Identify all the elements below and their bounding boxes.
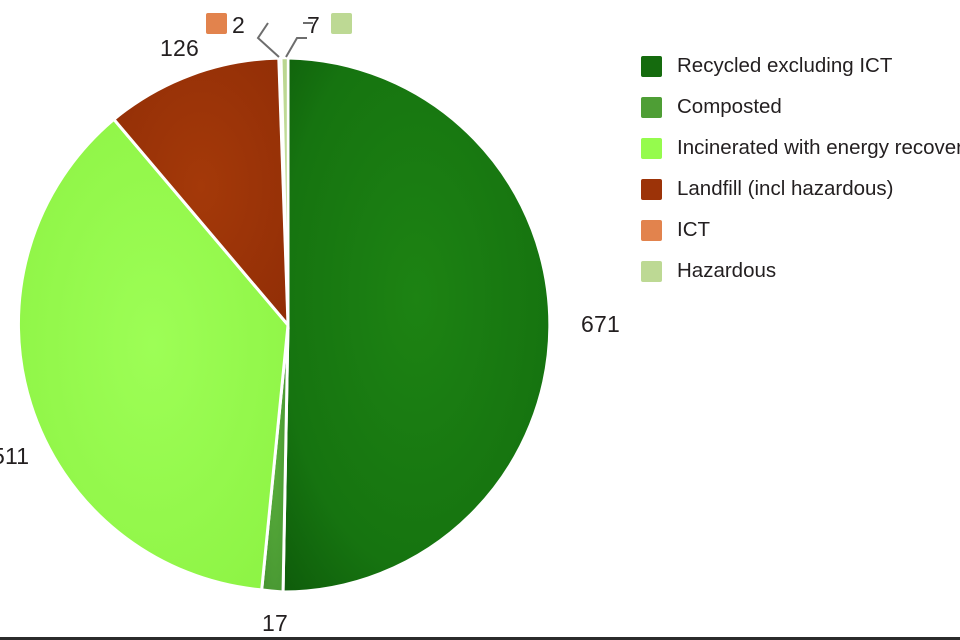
legend-swatch-landfill-incl-hazardous bbox=[641, 179, 662, 200]
legend-item-landfill-incl-hazardous[interactable]: Landfill (incl hazardous) bbox=[641, 169, 960, 210]
callout-swatch-ict bbox=[206, 13, 227, 34]
legend-swatch-composted bbox=[641, 97, 662, 118]
data-label-incinerated: 511 bbox=[0, 445, 29, 468]
pie-callout-leader-lines bbox=[258, 23, 313, 57]
legend-label-composted: Composted bbox=[677, 97, 782, 118]
legend-item-hazardous[interactable]: Hazardous bbox=[641, 251, 960, 292]
pie-slices bbox=[18, 58, 549, 592]
pie-chart-figure: 671 126 17 511 2 7 Recycled excluding IC… bbox=[0, 0, 960, 640]
data-label-landfill: 126 bbox=[160, 37, 199, 60]
chart-legend: Recycled excluding ICT Composted Inciner… bbox=[641, 46, 960, 292]
legend-item-ict[interactable]: ICT bbox=[641, 210, 960, 251]
leader-line-hazardous-stem bbox=[286, 38, 307, 57]
leader-line-ict bbox=[258, 23, 279, 57]
pie-slice-recycled-excluding-ict[interactable] bbox=[283, 58, 550, 592]
legend-label-ict: ICT bbox=[677, 220, 710, 241]
data-label-composted: 17 bbox=[262, 612, 288, 635]
data-label-recycled: 671 bbox=[581, 313, 620, 336]
legend-swatch-recycled-excluding-ict bbox=[641, 56, 662, 77]
data-label-ict: 2 bbox=[232, 14, 245, 37]
legend-item-incinerated-with-energy-recovery[interactable]: Incinerated with energy recovery bbox=[641, 128, 960, 169]
legend-swatch-hazardous bbox=[641, 261, 662, 282]
legend-label-incinerated-with-energy-recovery: Incinerated with energy recovery bbox=[677, 138, 960, 159]
legend-label-hazardous: Hazardous bbox=[677, 261, 776, 282]
legend-item-recycled-excluding-ict[interactable]: Recycled excluding ICT bbox=[641, 46, 960, 87]
legend-swatch-incinerated-with-energy-recovery bbox=[641, 138, 662, 159]
legend-label-landfill-incl-hazardous: Landfill (incl hazardous) bbox=[677, 179, 894, 200]
data-label-hazardous: 7 bbox=[307, 14, 320, 37]
legend-label-recycled-excluding-ict: Recycled excluding ICT bbox=[677, 56, 892, 77]
callout-swatch-hazardous bbox=[331, 13, 352, 34]
legend-item-composted[interactable]: Composted bbox=[641, 87, 960, 128]
legend-swatch-ict bbox=[641, 220, 662, 241]
